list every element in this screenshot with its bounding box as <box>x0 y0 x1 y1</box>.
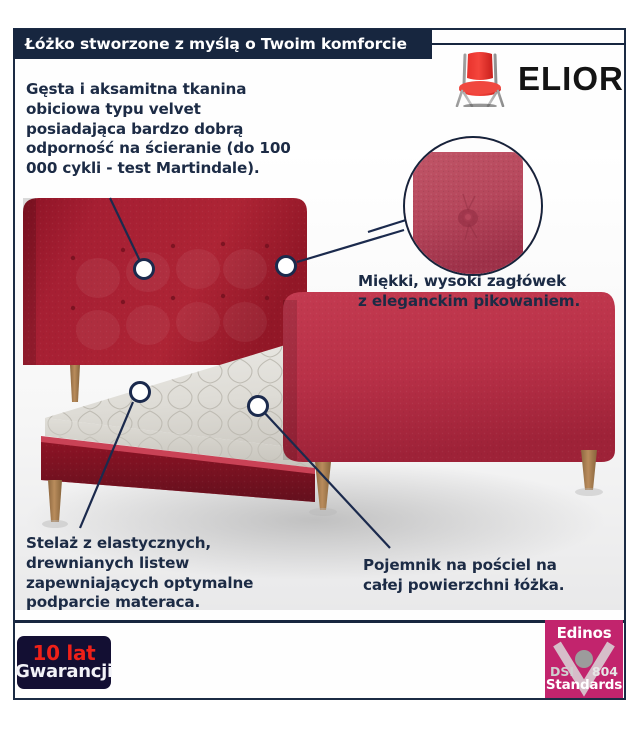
warranty-years: 10 lat <box>33 643 96 663</box>
hotspot-fabric[interactable] <box>133 258 155 280</box>
hotspot-slats[interactable] <box>129 381 151 403</box>
callout-line: 000 cykli - test Martindale). <box>26 159 346 179</box>
warranty-label: Gwarancji <box>15 663 113 682</box>
callout-line: podparcie materaca. <box>26 593 336 613</box>
tufting-detail-illustration <box>405 138 541 274</box>
certification-badge: Edinos DSI 804 Standards <box>545 620 623 698</box>
brand-logo: ELIOR <box>452 48 624 108</box>
red-chair-icon <box>452 49 508 107</box>
callout-line: z eleganckim pikowaniem. <box>358 292 626 312</box>
callout-line: Stelaż z elastycznych, <box>26 534 336 554</box>
header-title-bar: Łóżko stworzone z myślą o Twoim komforci… <box>13 29 432 59</box>
callout-line: posiadająca bardzo dobrą <box>26 120 346 140</box>
certification-name: Edinos <box>545 624 623 642</box>
callout-text-fabric: Gęsta i aksamitna tkanina obiciowa typu … <box>26 80 346 179</box>
callout-text-headrest: Miękki, wysoki zagłówek z eleganckim pik… <box>358 272 626 312</box>
brand-name: ELIOR <box>518 62 624 95</box>
certification-label: Standards <box>545 677 623 693</box>
callout-line: Pojemnik na pościel na <box>363 556 613 576</box>
magnified-tufting-detail <box>403 136 543 276</box>
page-title: Łóżko stworzone z myślą o Twoim komforci… <box>25 35 407 53</box>
callout-line: obiciowa typu velvet <box>26 100 346 120</box>
callout-line: Miękki, wysoki zagłówek <box>358 272 626 292</box>
footer-divider <box>15 620 624 623</box>
infographic-canvas: Łóżko stworzone z myślą o Twoim komforci… <box>0 0 640 750</box>
callout-text-slats: Stelaż z elastycznych, drewnianych liste… <box>26 534 336 613</box>
callout-line: drewnianych listew <box>26 554 336 574</box>
callout-line: całej powierzchni łóżka. <box>363 576 613 596</box>
warranty-badge: 10 lat Gwarancji <box>17 636 111 689</box>
hotspot-headrest[interactable] <box>275 255 297 277</box>
callout-line: Gęsta i aksamitna tkanina <box>26 80 346 100</box>
callout-text-storage: Pojemnik na pościel na całej powierzchni… <box>363 556 613 596</box>
callout-line: odporność na ścieranie (do 100 <box>26 139 346 159</box>
header-rule <box>432 43 626 45</box>
hotspot-storage[interactable] <box>247 395 269 417</box>
callout-line: zapewniających optymalne <box>26 574 336 594</box>
